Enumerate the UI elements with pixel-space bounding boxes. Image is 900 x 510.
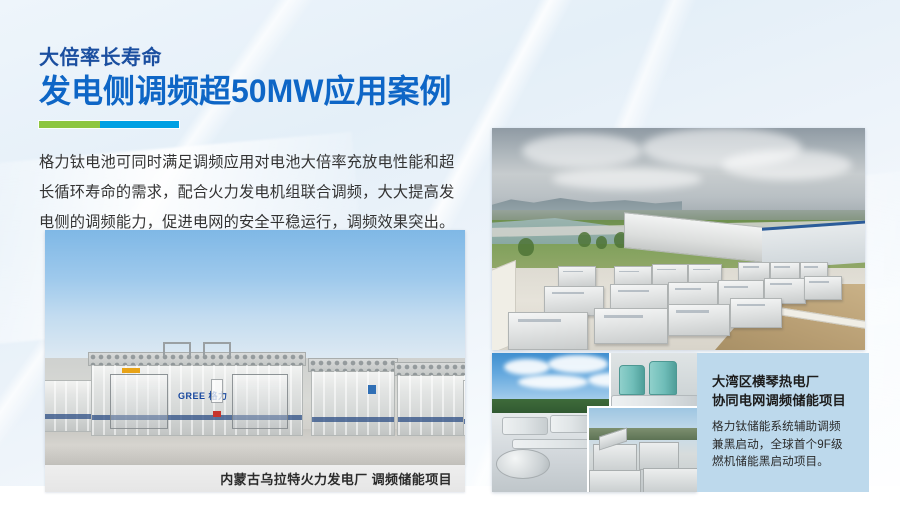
container-stripe xyxy=(464,419,465,424)
battery-container-unit xyxy=(730,298,782,328)
collage-photo xyxy=(492,353,697,492)
project-info-line-1: 格力钛储能系统辅助调频 xyxy=(712,418,855,436)
container-stripe xyxy=(398,417,465,422)
headline-block: 大倍率长寿命 发电侧调频超50MW应用案例 xyxy=(39,46,469,128)
cloud xyxy=(522,134,642,168)
battery-container-unit xyxy=(508,312,588,350)
container-ribs xyxy=(312,371,394,435)
body-line-1: 格力钛电池可同时满足调频应用对电池大倍率充放电性能和超 xyxy=(39,148,464,178)
main-photo-caption: 内蒙古乌拉特火力发电厂 调频储能项目 xyxy=(45,465,465,492)
container-vent-grille xyxy=(395,363,465,375)
battery-container-unit: GREE 格力 xyxy=(91,364,303,436)
container-door xyxy=(232,374,288,429)
main-photo: GREE 格力 xyxy=(45,230,465,465)
aerial-photo xyxy=(492,128,865,350)
container-stripe xyxy=(312,417,394,422)
container-ribs xyxy=(464,381,465,435)
battery-container-unit xyxy=(463,380,465,436)
cloud xyxy=(552,168,702,190)
storage-tank xyxy=(619,365,645,395)
storage-tank xyxy=(649,361,677,395)
battery-container-unit xyxy=(639,442,679,470)
kicker-text: 大倍率长寿命 xyxy=(39,46,469,70)
container-roof-rack xyxy=(88,352,306,366)
collage-inset-top xyxy=(609,353,697,411)
container-roof-rack xyxy=(308,358,398,372)
page-title: 发电侧调频超50MW应用案例 xyxy=(39,72,469,111)
tree xyxy=(578,232,591,247)
battery-container-unit xyxy=(594,308,668,344)
warning-sign-red xyxy=(213,411,221,417)
roof-handrail xyxy=(203,342,231,356)
battery-container-unit xyxy=(589,470,641,492)
slide-canvas: 大倍率长寿命 发电侧调频超50MW应用案例 格力钛电池可同时满足调频应用对电池大… xyxy=(0,0,900,510)
photo-sky xyxy=(45,230,465,358)
battery-container-unit xyxy=(668,304,730,336)
circular-tank xyxy=(496,449,550,479)
cloud xyxy=(518,375,588,389)
container-ribs xyxy=(398,375,465,435)
main-photo-caption-text: 内蒙古乌拉特火力发电厂 调频储能项目 xyxy=(220,469,452,488)
title-underline-rule xyxy=(39,121,179,128)
project-info-title-line-2: 协同电网调频储能项目 xyxy=(712,391,855,410)
project-info-title-line-1: 大湾区横琴热电厂 xyxy=(712,372,855,391)
battery-container-unit xyxy=(558,266,596,288)
container-roof-rack xyxy=(394,362,465,376)
rule-segment-green xyxy=(39,121,100,128)
tree xyxy=(596,236,607,249)
body-paragraph: 格力钛电池可同时满足调频应用对电池大倍率充放电性能和超 长循环寿命的需求，配合火… xyxy=(39,148,464,238)
battery-container-unit xyxy=(311,370,395,436)
body-line-2: 长循环寿命的需求，配合火力发电机组联合调频，大大提高发 xyxy=(39,178,464,208)
control-panel xyxy=(211,379,223,403)
project-info-panel: 大湾区横琴热电厂 协同电网调频储能项目 格力钛储能系统辅助调频 兼黑启动，全球首… xyxy=(697,353,869,492)
equipment-module xyxy=(502,417,548,435)
cloud xyxy=(722,150,852,180)
rule-segment-blue xyxy=(100,121,179,128)
tree xyxy=(518,238,534,256)
warning-sign-yellow xyxy=(122,368,140,373)
collage-inset-bottom xyxy=(587,406,697,492)
project-info-description: 格力钛储能系统辅助调频 兼黑启动，全球首个9F级 燃机储能黑启动项目。 xyxy=(712,418,855,471)
project-info-line-2: 兼黑启动，全球首个9F级 xyxy=(712,436,855,454)
battery-container-unit xyxy=(397,374,465,436)
warning-sign-blue xyxy=(368,385,376,394)
project-info-title: 大湾区横琴热电厂 协同电网调频储能项目 xyxy=(712,372,855,410)
container-door xyxy=(110,374,168,429)
roof-handrail xyxy=(163,342,191,356)
container-vent-grille xyxy=(309,359,397,371)
cloud xyxy=(548,355,608,373)
project-info-line-3: 燃机储能黑启动项目。 xyxy=(712,453,855,471)
cloud xyxy=(504,359,550,375)
container-vent-grille xyxy=(89,353,305,365)
battery-container-unit xyxy=(804,276,842,300)
battery-container-unit xyxy=(643,468,697,492)
